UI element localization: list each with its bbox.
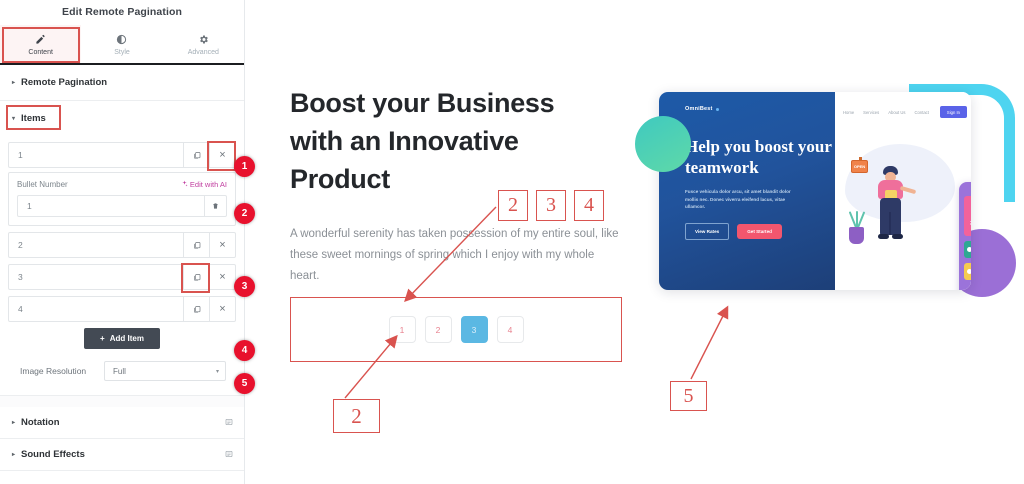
chevron-right-icon: ▸ <box>12 451 15 458</box>
sparkle-icon <box>181 180 188 189</box>
illustration-person <box>873 166 909 244</box>
preview-paragraph: A wonderful serenity has taken possessio… <box>290 224 620 287</box>
person-shoe-left <box>878 234 889 239</box>
get-started-button[interactable]: Get Started <box>737 224 782 239</box>
person-legs <box>880 198 901 235</box>
image-resolution-field: Image Resolution Full ▾ <box>8 361 236 381</box>
mockup-logo-text: OmniBest <box>685 106 713 112</box>
trash-icon[interactable] <box>204 196 226 216</box>
section-notation[interactable]: ▸ Notation <box>0 407 244 439</box>
callout-box-3-inline: 3 <box>536 190 566 221</box>
pagination-page-3[interactable]: 3 <box>461 316 488 343</box>
pagination-page-4[interactable]: 4 <box>497 316 524 343</box>
phone-text-line <box>970 223 971 224</box>
section-remote-pagination-label: Remote Pagination <box>21 77 107 88</box>
callout-box-4-inline: 4 <box>574 190 604 221</box>
annotation-badge-2: 2 <box>234 203 255 224</box>
list-item[interactable]: 2 × <box>8 232 236 258</box>
list-icon[interactable] <box>225 450 233 460</box>
pagination-widget: 1 2 3 4 <box>290 297 622 362</box>
add-item-label: Add Item <box>110 334 144 343</box>
tab-advanced[interactable]: Advanced <box>163 25 244 63</box>
list-icon[interactable] <box>225 418 233 428</box>
phone-card-profile <box>964 196 971 236</box>
callout-box-2-inline: 2 <box>498 190 528 221</box>
plant-pot <box>849 227 864 244</box>
chevron-down-icon: ▾ <box>12 115 15 122</box>
bullet-number-label: Bullet Number <box>17 180 68 189</box>
annotation-badge-4: 4 <box>234 340 255 361</box>
section-items[interactable]: ▾ Items <box>0 101 244 135</box>
preview-mockup-image: OmniBest Help you boost your teamwork Fu… <box>635 72 1020 312</box>
mockup-nav-item-home[interactable]: Home <box>843 110 854 115</box>
panel-tabs: Content Style Advanced <box>0 25 244 65</box>
mockup-button-group: View Rates Get Started <box>685 223 835 240</box>
duplicate-icon[interactable] <box>183 265 209 289</box>
duplicate-icon[interactable] <box>183 297 209 321</box>
add-item-button[interactable]: + Add Item <box>84 328 160 349</box>
mockup-logo-dot <box>716 108 719 111</box>
view-rates-button[interactable]: View Rates <box>685 223 729 240</box>
list-item[interactable]: 1 × <box>8 142 236 168</box>
phone-card-dot <box>967 269 971 274</box>
page-title: Edit Remote Pagination <box>0 0 244 25</box>
list-item[interactable]: 3 × <box>8 264 236 290</box>
illustration-phone <box>959 182 971 290</box>
tab-advanced-label: Advanced <box>188 49 219 56</box>
open-sign-icon: OPEN <box>851 160 868 173</box>
phone-rating-stars <box>964 215 971 218</box>
mockup-logo: OmniBest <box>685 106 835 112</box>
tab-style-label: Style <box>114 49 130 56</box>
teal-circle-decoration <box>635 116 691 172</box>
tab-content[interactable]: Content <box>0 25 81 63</box>
mockup-nav-item-contact[interactable]: Contact <box>914 110 928 115</box>
edit-with-ai-button[interactable]: Edit with AI <box>181 180 227 189</box>
mockup-paragraph: Fusce vehicula dolor arcu, sit amet blan… <box>685 188 797 211</box>
tab-content-label: Content <box>28 49 53 56</box>
image-resolution-select[interactable]: Full ▾ <box>104 361 226 381</box>
mockup-content-panel: Home Services About Us Contact Sign In O… <box>835 92 971 290</box>
pencil-icon <box>35 33 46 46</box>
mockup-hero-panel: OmniBest Help you boost your teamwork Fu… <box>659 92 835 290</box>
item-label: 4 <box>9 304 183 314</box>
callout-box-mockup: 5 <box>670 381 707 411</box>
image-resolution-label: Image Resolution <box>20 366 104 376</box>
image-resolution-value: Full <box>113 367 126 376</box>
illustration-plant <box>847 204 865 244</box>
mockup-nav-item-services[interactable]: Services <box>863 110 879 115</box>
item-label: 3 <box>9 272 183 282</box>
item-label: 2 <box>9 240 183 250</box>
section-sound-effects-label: Sound Effects <box>21 449 85 460</box>
gear-icon <box>198 33 209 46</box>
remove-item-button[interactable]: × <box>209 265 235 289</box>
list-item[interactable]: 4 × <box>8 296 236 322</box>
mockup-illustration: OPEN <box>839 140 969 245</box>
item-editor-header: Bullet Number Edit with AI <box>17 180 227 189</box>
pagination-page-1[interactable]: 1 <box>389 316 416 343</box>
duplicate-icon[interactable] <box>183 233 209 257</box>
contrast-icon <box>116 33 127 46</box>
callout-box-pagination: 2 <box>333 399 380 433</box>
bullet-number-input[interactable]: 1 <box>17 195 227 217</box>
plant-leaves <box>852 209 861 229</box>
phone-card-yellow <box>964 263 971 280</box>
add-item-row: + Add Item <box>8 328 236 349</box>
items-list: 1 × Bullet Number Edit with AI 1 <box>0 135 244 381</box>
bullet-number-value: 1 <box>18 201 32 211</box>
pagination-page-2[interactable]: 2 <box>425 316 452 343</box>
mockup-nav: Home Services About Us Contact Sign In <box>835 106 971 118</box>
remove-item-button[interactable]: × <box>209 143 235 167</box>
phone-card-green <box>964 241 971 258</box>
duplicate-icon[interactable] <box>183 143 209 167</box>
preview-heading: Boost your Business with an Innovative P… <box>290 84 590 198</box>
section-notation-label: Notation <box>21 417 60 428</box>
mockup-heading: Help you boost your teamwork <box>685 136 835 178</box>
section-sound-effects[interactable]: ▸ Sound Effects <box>0 439 244 471</box>
phone-text-line <box>970 221 971 222</box>
section-remote-pagination[interactable]: ▸ Remote Pagination <box>0 65 244 101</box>
panel-divider <box>0 395 244 407</box>
mockup-signin-button[interactable]: Sign In <box>940 106 967 118</box>
edit-widget-panel: Edit Remote Pagination Content Style Adv… <box>0 0 245 484</box>
chevron-right-icon: ▸ <box>12 79 15 86</box>
annotation-badge-3: 3 <box>234 276 255 297</box>
person-shoe-right <box>892 234 903 239</box>
remove-item-button[interactable]: × <box>209 233 235 257</box>
chevron-right-icon: ▸ <box>12 419 15 426</box>
mockup-browser-card: OmniBest Help you boost your teamwork Fu… <box>659 92 971 290</box>
remove-item-button[interactable]: × <box>209 297 235 321</box>
annotation-badge-5: 5 <box>234 373 255 394</box>
item-label: 1 <box>9 150 183 160</box>
mockup-nav-item-about[interactable]: About Us <box>888 110 905 115</box>
section-items-label: Items <box>21 113 46 124</box>
item-editor: Bullet Number Edit with AI 1 <box>8 172 236 226</box>
edit-with-ai-label: Edit with AI <box>190 180 227 189</box>
annotation-badge-1: 1 <box>234 156 255 177</box>
chevron-down-icon: ▾ <box>216 368 219 375</box>
phone-card-dot <box>967 247 971 252</box>
plus-icon: + <box>100 334 105 343</box>
tab-style[interactable]: Style <box>81 25 162 63</box>
